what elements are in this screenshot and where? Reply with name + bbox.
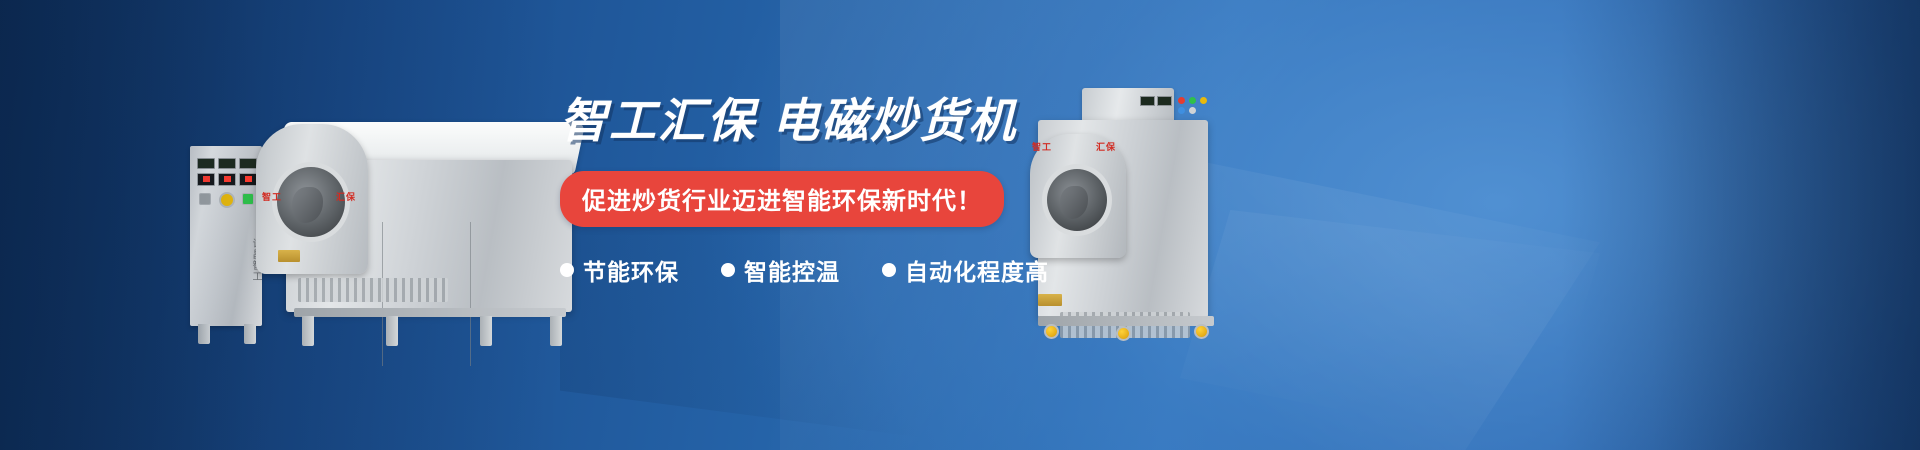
feature-item-0: 节能环保: [560, 253, 679, 287]
panel-indicator-2: [218, 158, 236, 169]
small-base-rail: [1038, 316, 1214, 326]
roaster-leg-4: [550, 316, 562, 346]
brand-mark-left: 智工: [262, 190, 282, 203]
roaster-leg-1: [302, 316, 314, 346]
panel-indicator-3: [239, 158, 257, 169]
product-image-large-roaster: 许昌智工 智工 汇保: [190, 102, 610, 347]
feature-label: 节能环保: [583, 253, 679, 287]
emergency-stop-knob[interactable]: [219, 192, 235, 208]
caster-wheel-2: [1116, 326, 1131, 341]
roaster-leg-3: [480, 316, 492, 346]
body-seam-2: [470, 222, 471, 366]
small-button-green[interactable]: [1189, 97, 1196, 104]
tagline-badge: 促进炒货行业迈进智能环保新时代！: [560, 171, 1004, 227]
banner-copy: 智工汇保电磁炒货机 促进炒货行业迈进智能环保新时代！ 节能环保 智能控温 自动化…: [560, 96, 1030, 287]
small-display-1: [1140, 96, 1155, 106]
small-control-panel: [1140, 96, 1218, 116]
small-button-yellow[interactable]: [1200, 97, 1207, 104]
product-image-small-roaster: 智工 汇保: [1030, 88, 1250, 353]
control-cabinet: 许昌智工: [190, 146, 262, 326]
feature-item-1: 智能控温: [721, 253, 840, 287]
caster-wheel-3: [1194, 324, 1209, 339]
panel-start-button[interactable]: [242, 193, 254, 205]
caster-wheel-1: [1044, 324, 1059, 339]
small-brand-mark-right: 汇保: [1096, 140, 1116, 153]
panel-display-3: [239, 173, 257, 186]
bullet-dot-icon: [721, 263, 735, 277]
bullet-dot-icon: [560, 263, 574, 277]
small-control-box: [1082, 88, 1174, 122]
brand-mark-right: 汇保: [336, 190, 356, 203]
headline-part-left: 智工汇保: [560, 94, 756, 147]
bullet-dot-icon: [882, 263, 896, 277]
feature-label: 自动化程度高: [905, 253, 1049, 287]
headline-part-right: 电磁炒货机: [772, 94, 1017, 147]
roaster-leg-2: [386, 316, 398, 346]
small-brand-mark-left: 智工: [1032, 140, 1052, 153]
panel-display-2: [218, 173, 236, 186]
promo-banner: 许昌智工 智工 汇保: [0, 0, 1920, 450]
roaster-drum-housing: 智工 汇保: [256, 124, 368, 274]
page-title: 智工汇保电磁炒货机: [560, 96, 1030, 147]
small-button-blue[interactable]: [1178, 107, 1185, 114]
panel-indicator-1: [197, 158, 215, 169]
panel-switch-left[interactable]: [199, 193, 211, 205]
small-drum-housing: 智工 汇保: [1030, 134, 1126, 258]
small-drum-opening: [1042, 164, 1112, 236]
feature-item-2: 自动化程度高: [882, 253, 1049, 287]
background-facet-5: [1560, 0, 1920, 450]
small-nameplate: [1038, 294, 1062, 306]
small-button-red[interactable]: [1178, 97, 1185, 104]
roaster-base-rail: [294, 308, 566, 317]
feature-label: 智能控温: [744, 253, 840, 287]
small-display-2: [1157, 96, 1172, 106]
small-button-grey[interactable]: [1189, 107, 1196, 114]
cabinet-leg-2: [244, 324, 256, 344]
panel-display-1: [197, 173, 215, 186]
ventilation-grille: [298, 278, 448, 302]
nameplate: [278, 250, 300, 262]
cabinet-leg-1: [198, 324, 210, 344]
control-panel-face: [195, 156, 257, 218]
feature-list: 节能环保 智能控温 自动化程度高: [560, 253, 1030, 287]
